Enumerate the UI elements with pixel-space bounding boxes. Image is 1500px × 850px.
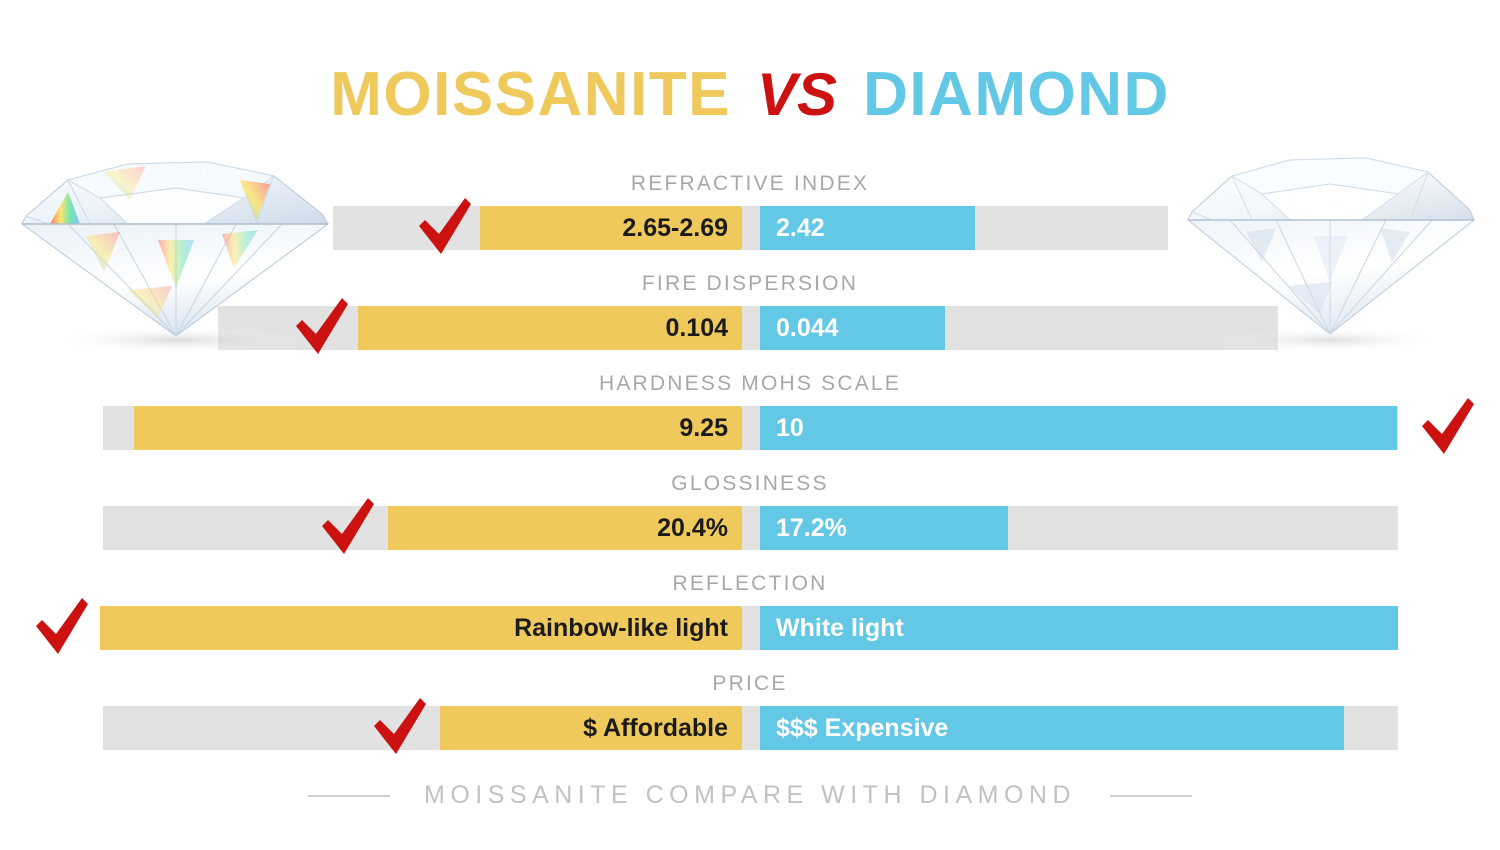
row-label: FIRE DISPERSION: [0, 272, 1500, 296]
moissanite-value: 20.4%: [657, 514, 742, 543]
moissanite-value: 0.104: [665, 314, 742, 343]
row-label: REFLECTION: [0, 572, 1500, 596]
winner-check-icon: [370, 696, 428, 758]
moissanite-bar: 0.104: [358, 306, 742, 350]
diamond-value: $$$ Expensive: [760, 714, 948, 743]
row-label: HARDNESS MOHS SCALE: [0, 372, 1500, 396]
comparison-row: GLOSSINESS20.4%17.2%: [0, 468, 1500, 568]
diamond-bar: 17.2%: [760, 506, 1008, 550]
comparison-rows: REFRACTIVE INDEX2.65-2.692.42FIRE DISPER…: [0, 168, 1500, 768]
diamond-bar: 0.044: [760, 306, 945, 350]
diamond-bar: 2.42: [760, 206, 975, 250]
winner-check-icon: [32, 596, 90, 658]
row-label: REFRACTIVE INDEX: [0, 172, 1500, 196]
diamond-value: 0.044: [760, 314, 839, 343]
moissanite-bar: $ Affordable: [440, 706, 742, 750]
row-label: GLOSSINESS: [0, 472, 1500, 496]
title-moissanite: MOISSANITE: [330, 64, 731, 126]
moissanite-bar: 20.4%: [388, 506, 742, 550]
diamond-bar: $$$ Expensive: [760, 706, 1344, 750]
diamond-value: White light: [760, 614, 904, 643]
comparison-row: REFLECTIONRainbow-like lightWhite light: [0, 568, 1500, 668]
footer-caption: MOISSANITE COMPARE WITH DIAMOND: [424, 781, 1076, 810]
page-title: MOISSANITE VS DIAMOND: [0, 64, 1500, 126]
winner-check-icon: [415, 196, 473, 258]
comparison-row: REFRACTIVE INDEX2.65-2.692.42: [0, 168, 1500, 268]
diamond-value: 17.2%: [760, 514, 847, 543]
winner-check-icon: [318, 496, 376, 558]
moissanite-value: 9.25: [679, 414, 742, 443]
diamond-bar: White light: [760, 606, 1398, 650]
winner-check-icon: [292, 296, 350, 358]
moissanite-value: $ Affordable: [583, 714, 742, 743]
footer-rule-right: [1110, 795, 1192, 797]
diamond-bar: 10: [760, 406, 1397, 450]
comparison-row: FIRE DISPERSION0.1040.044: [0, 268, 1500, 368]
winner-check-icon: [1418, 396, 1476, 458]
row-track: [103, 506, 1398, 550]
footer-caption-group: MOISSANITE COMPARE WITH DIAMOND: [0, 781, 1500, 810]
diamond-value: 2.42: [760, 214, 825, 243]
comparison-row: HARDNESS MOHS SCALE9.2510: [0, 368, 1500, 468]
infographic-canvas: MOISSANITE VS DIAMOND: [0, 0, 1500, 850]
moissanite-value: 2.65-2.69: [622, 214, 742, 243]
moissanite-bar: 2.65-2.69: [480, 206, 742, 250]
row-label: PRICE: [0, 672, 1500, 696]
diamond-value: 10: [760, 414, 804, 443]
footer-rule-left: [308, 795, 390, 797]
comparison-row: PRICE$ Affordable$$$ Expensive: [0, 668, 1500, 768]
title-vs: VS: [757, 65, 837, 125]
title-diamond: DIAMOND: [863, 64, 1170, 126]
moissanite-bar: Rainbow-like light: [100, 606, 742, 650]
moissanite-value: Rainbow-like light: [514, 614, 742, 643]
moissanite-bar: 9.25: [134, 406, 742, 450]
